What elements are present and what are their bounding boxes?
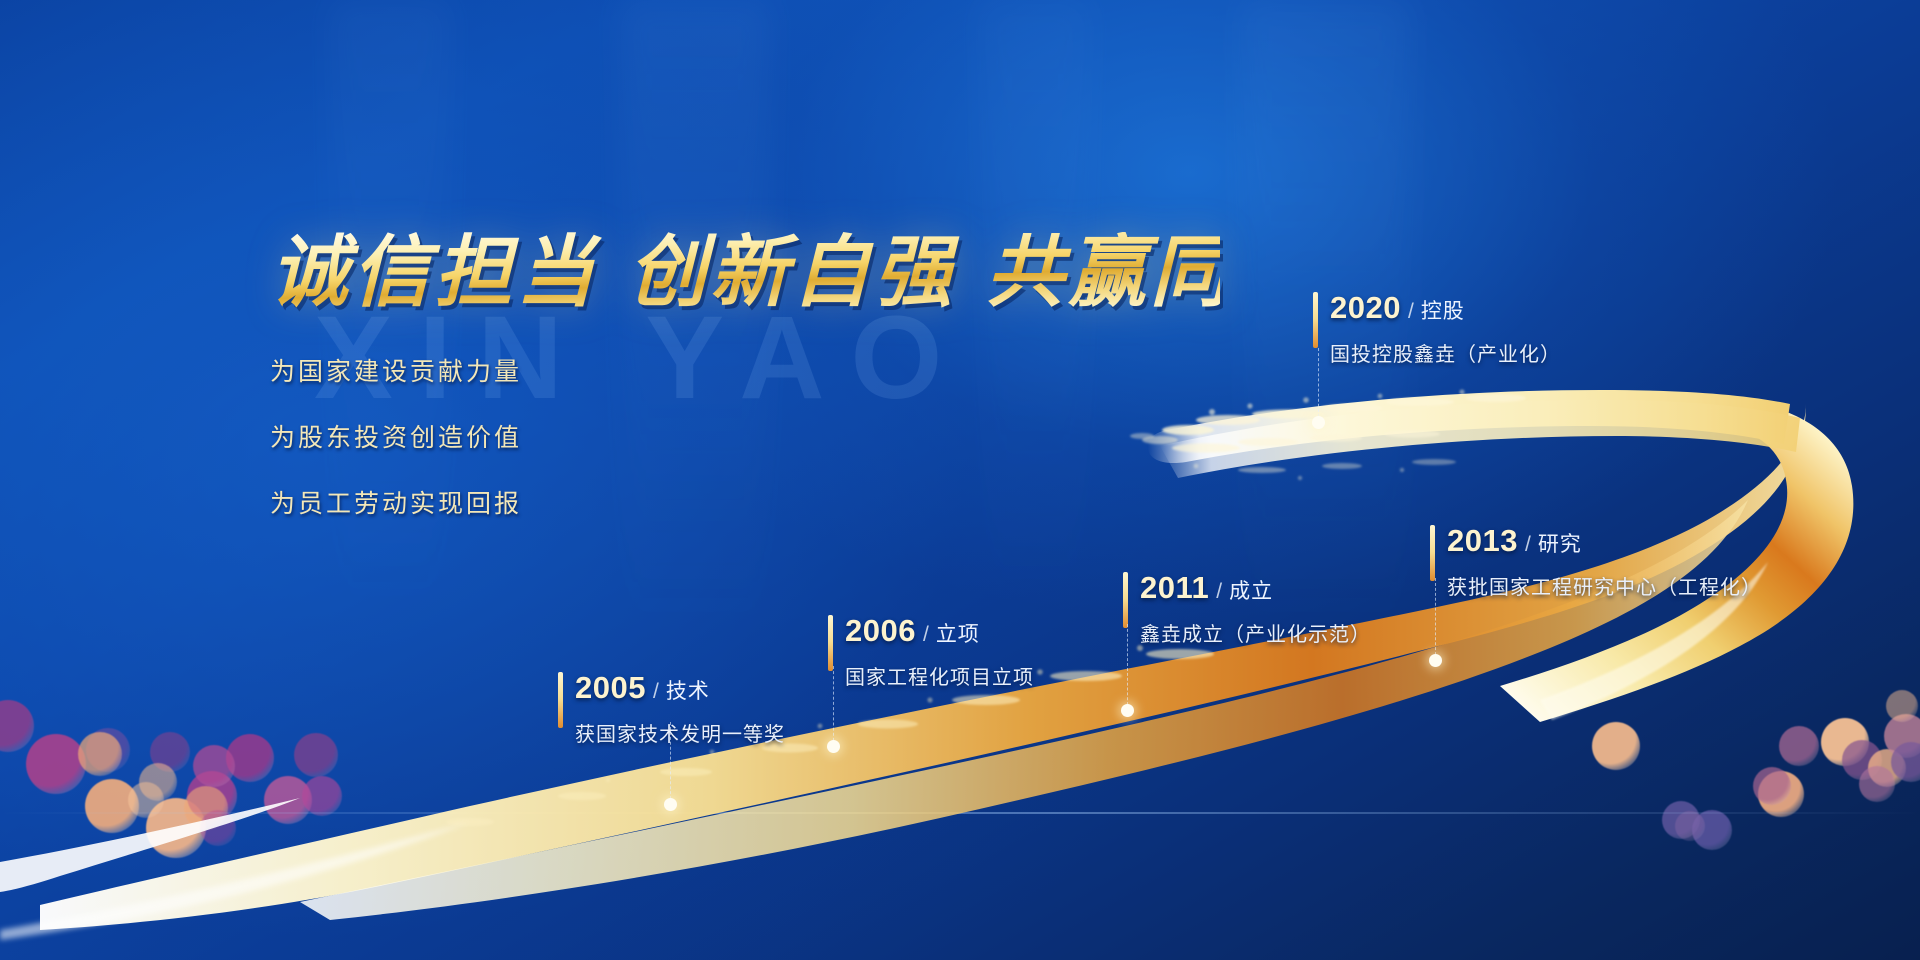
milestone-heading: 2020/控股 bbox=[1330, 290, 1561, 326]
milestone-dot-2013[interactable] bbox=[1429, 654, 1442, 667]
milestone-tag: 立项 bbox=[936, 618, 980, 648]
milestone-description: 国投控股鑫垚（产业化） bbox=[1330, 338, 1561, 367]
milestone-heading: 2011/成立 bbox=[1140, 570, 1371, 606]
milestone-description: 获国家技术发明一等奖 bbox=[575, 718, 785, 747]
milestone-description: 鑫垚成立（产业化示范） bbox=[1140, 618, 1371, 647]
milestone-accent-bar bbox=[828, 615, 833, 671]
slogan-line-3: 为员工劳动实现回报 bbox=[270, 484, 1220, 520]
milestone-separator: / bbox=[1525, 533, 1531, 557]
milestone-leader-line-2020 bbox=[1318, 348, 1319, 422]
milestone-separator: / bbox=[1408, 300, 1414, 324]
milestone-2006[interactable]: 2006/立项国家工程化项目立项 bbox=[845, 613, 1034, 690]
milestone-tag: 控股 bbox=[1421, 295, 1465, 325]
bokeh-light-17 bbox=[200, 810, 236, 846]
milestone-accent-bar bbox=[1313, 292, 1318, 348]
milestone-heading: 2013/研究 bbox=[1447, 523, 1762, 559]
milestone-leader-line-2013 bbox=[1435, 578, 1436, 660]
milestone-leader-line-2005 bbox=[670, 722, 671, 804]
horizon-glow bbox=[0, 812, 1920, 814]
slogan-list: 为国家建设贡献力量为股东投资创造价值为员工劳动实现回报 bbox=[270, 352, 1220, 520]
milestone-year: 2011 bbox=[1140, 570, 1209, 606]
milestone-dot-2020[interactable] bbox=[1312, 416, 1325, 429]
milestone-dot-2006[interactable] bbox=[827, 740, 840, 753]
bokeh-light-2 bbox=[0, 700, 34, 752]
bokeh-light-3 bbox=[85, 779, 139, 833]
milestone-description: 获批国家工程研究中心（工程化） bbox=[1447, 571, 1762, 600]
milestone-accent-bar bbox=[1123, 572, 1128, 628]
bokeh-light-29 bbox=[1891, 742, 1920, 782]
milestone-tag: 研究 bbox=[1538, 528, 1582, 558]
milestone-accent-bar bbox=[1430, 525, 1435, 581]
milestone-leader-line-2006 bbox=[833, 666, 834, 746]
milestone-accent-bar bbox=[558, 672, 563, 728]
milestone-2011[interactable]: 2011/成立鑫垚成立（产业化示范） bbox=[1140, 570, 1371, 647]
milestone-heading: 2005/技术 bbox=[575, 670, 785, 706]
milestone-description: 国家工程化项目立项 bbox=[845, 661, 1034, 690]
bokeh-light-9 bbox=[264, 776, 312, 824]
page-title: 诚信担当创新自强共赢同享 bbox=[270, 232, 1220, 314]
bokeh-light-19 bbox=[1662, 801, 1700, 839]
milestone-separator: / bbox=[1216, 580, 1222, 604]
bokeh-light-21 bbox=[1758, 771, 1804, 817]
milestone-2005[interactable]: 2005/技术获国家技术发明一等奖 bbox=[575, 670, 785, 747]
slogan-line-1: 为国家建设贡献力量 bbox=[270, 352, 1220, 388]
headline-part-1: 诚信担当 bbox=[270, 229, 598, 316]
bokeh-light-28 bbox=[1884, 714, 1920, 758]
bokeh-light-24 bbox=[1821, 718, 1869, 766]
milestone-year: 2006 bbox=[845, 613, 916, 649]
bokeh-light-18 bbox=[1592, 722, 1640, 770]
light-beam-4 bbox=[1240, 0, 1410, 960]
milestone-dot-2005[interactable] bbox=[664, 798, 677, 811]
milestone-tag: 技术 bbox=[666, 675, 710, 705]
milestone-year: 2020 bbox=[1330, 290, 1401, 326]
bokeh-light-27 bbox=[1859, 766, 1895, 802]
bokeh-light-31 bbox=[1675, 811, 1705, 841]
milestone-year: 2005 bbox=[575, 670, 646, 706]
bokeh-light-16 bbox=[302, 776, 342, 816]
milestone-heading: 2006/立项 bbox=[845, 613, 1034, 649]
headline-part-3: 共赢同享 bbox=[986, 229, 1314, 316]
bokeh-light-15 bbox=[139, 763, 177, 801]
headline-part-2: 创新自强 bbox=[628, 229, 956, 316]
bokeh-light-11 bbox=[78, 732, 122, 776]
bokeh-light-20 bbox=[1692, 810, 1732, 850]
bokeh-light-26 bbox=[1868, 749, 1906, 787]
bokeh-light-25 bbox=[1842, 740, 1882, 780]
bokeh-light-14 bbox=[193, 745, 235, 787]
bokeh-light-6 bbox=[150, 732, 190, 772]
headline-block: XIN YAO 诚信担当创新自强共赢同享 为国家建设贡献力量为股东投资创造价值为… bbox=[270, 232, 1220, 550]
bokeh-light-5 bbox=[86, 728, 130, 772]
milestone-separator: / bbox=[923, 623, 929, 647]
bokeh-light-1 bbox=[26, 734, 86, 794]
milestone-dot-2011[interactable] bbox=[1121, 704, 1134, 717]
bokeh-light-4 bbox=[146, 798, 206, 858]
bokeh-light-30 bbox=[1886, 690, 1918, 722]
banner-canvas: XIN YAO 诚信担当创新自强共赢同享 为国家建设贡献力量为股东投资创造价值为… bbox=[0, 0, 1920, 960]
bokeh-light-23 bbox=[1779, 726, 1819, 766]
milestone-year: 2013 bbox=[1447, 523, 1518, 559]
bokeh-light-22 bbox=[1753, 767, 1791, 805]
slogan-line-2: 为股东投资创造价值 bbox=[270, 418, 1220, 454]
milestone-2020[interactable]: 2020/控股国投控股鑫垚（产业化） bbox=[1330, 290, 1561, 367]
milestone-tag: 成立 bbox=[1229, 575, 1273, 605]
milestone-2013[interactable]: 2013/研究获批国家工程研究中心（工程化） bbox=[1447, 523, 1762, 600]
bokeh-light-8 bbox=[226, 734, 274, 782]
bokeh-light-10 bbox=[294, 733, 338, 777]
milestone-leader-line-2011 bbox=[1127, 624, 1128, 710]
milestone-separator: / bbox=[653, 680, 659, 704]
bokeh-light-12 bbox=[184, 786, 228, 830]
